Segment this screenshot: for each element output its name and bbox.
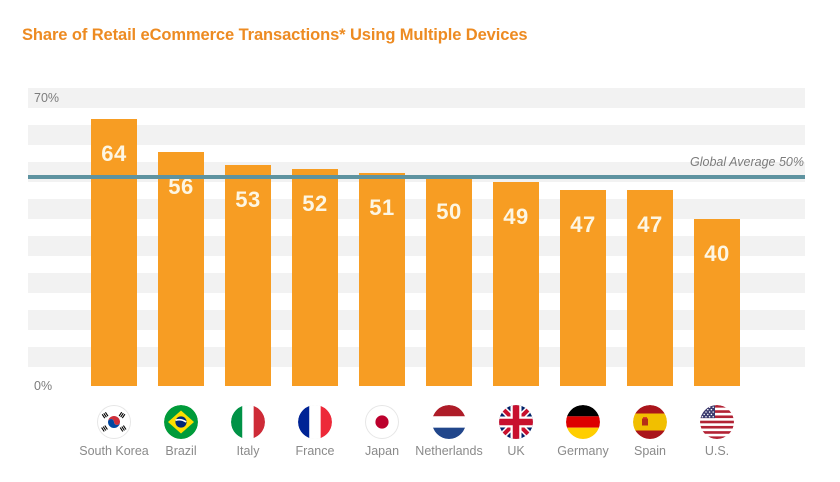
- bar[interactable]: 51: [359, 173, 405, 386]
- flag-italy-icon: [231, 405, 265, 439]
- flag-netherlands-icon: [432, 405, 466, 439]
- bar-value-label: 52: [292, 191, 338, 217]
- bar-value-label: 53: [225, 187, 271, 213]
- flag-france-icon: [298, 405, 332, 439]
- y-axis-tick-bottom: 0%: [34, 379, 52, 393]
- bar[interactable]: 56: [158, 152, 204, 386]
- page-title: Share of Retail eCommerce Transactions* …: [22, 26, 527, 45]
- bar-value-label: 47: [560, 212, 606, 238]
- bar-value-label: 50: [426, 199, 472, 225]
- grid-band: [28, 88, 805, 108]
- flag-south-korea-icon: [97, 405, 131, 439]
- grid-band: [28, 273, 805, 293]
- bar[interactable]: 40: [694, 219, 740, 386]
- chart-container: Share of Retail eCommerce Transactions* …: [0, 0, 840, 482]
- flag-uk-icon: [499, 405, 533, 439]
- grid-band: [28, 347, 805, 367]
- flag-germany-icon: [566, 405, 600, 439]
- global-average-label: Global Average 50%: [690, 155, 804, 169]
- y-axis-tick-top: 70%: [34, 91, 59, 105]
- category-label: U.S.: [675, 444, 759, 458]
- bar[interactable]: 52: [292, 169, 338, 386]
- bar[interactable]: 47: [560, 190, 606, 386]
- bar-value-label: 64: [91, 141, 137, 167]
- bar[interactable]: 53: [225, 165, 271, 386]
- category-item: U.S.: [675, 405, 759, 458]
- flag-japan-icon: [365, 405, 399, 439]
- bar-value-label: 47: [627, 212, 673, 238]
- bar-value-label: 51: [359, 195, 405, 221]
- global-average-line: [28, 175, 805, 179]
- flag-brazil-icon: [164, 405, 198, 439]
- bar[interactable]: 47: [627, 190, 673, 386]
- bar[interactable]: 50: [426, 177, 472, 386]
- plot-area: [28, 88, 805, 386]
- grid-band: [28, 310, 805, 330]
- grid-band: [28, 236, 805, 256]
- flag-us-icon: [700, 405, 734, 439]
- flag-spain-icon: [633, 405, 667, 439]
- grid-band: [28, 199, 805, 219]
- bar-value-label: 49: [493, 204, 539, 230]
- bar[interactable]: 49: [493, 182, 539, 386]
- grid-band: [28, 125, 805, 145]
- bar[interactable]: 64: [91, 119, 137, 386]
- bar-value-label: 40: [694, 241, 740, 267]
